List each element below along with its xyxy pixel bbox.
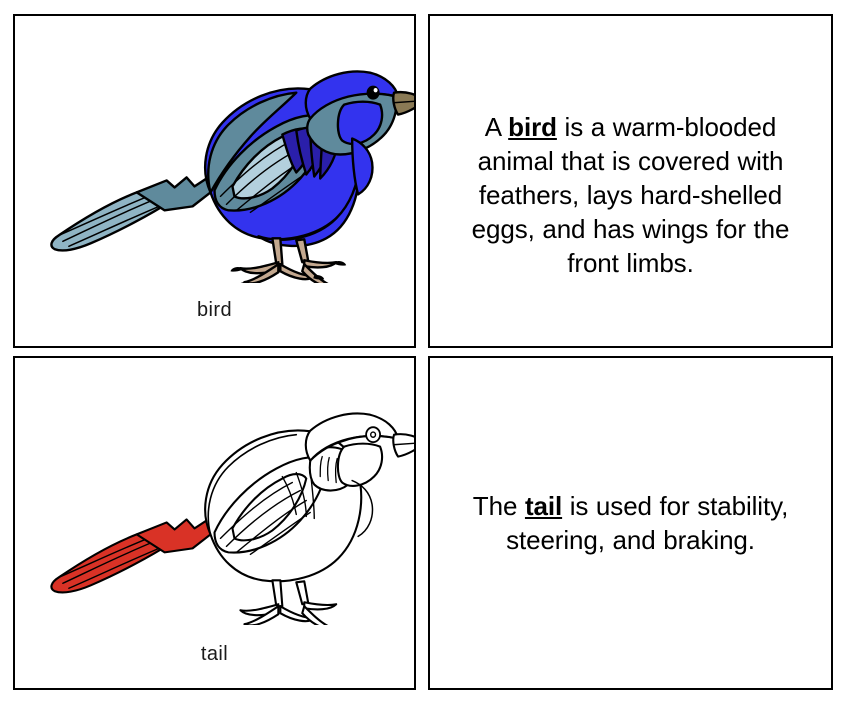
definition-term-tail: tail <box>525 491 562 521</box>
card-tail-definition[interactable]: The tail is used for stability, steering… <box>428 356 833 690</box>
definition-prefix: The <box>473 491 525 521</box>
nomenclature-card-sheet: bird A bird is a warm-blooded animal tha… <box>0 0 848 707</box>
picture-label-tail: tail <box>15 644 414 664</box>
definition-prefix: A <box>485 112 508 142</box>
outline-bird-tail-highlighted-illustration <box>15 370 414 625</box>
card-tail-picture[interactable]: tail <box>13 356 416 690</box>
colored-bird-illustration <box>15 28 414 283</box>
definition-card-inner: The tail is used for stability, steering… <box>430 358 831 688</box>
card-bird-picture[interactable]: bird <box>13 14 416 348</box>
definition-term-bird: bird <box>508 112 557 142</box>
picture-card-inner: bird <box>15 16 414 346</box>
picture-card-inner: tail <box>15 358 414 688</box>
picture-label-bird: bird <box>15 300 414 320</box>
card-bird-definition[interactable]: A bird is a warm-blooded animal that is … <box>428 14 833 348</box>
definition-text-tail: The tail is used for stability, steering… <box>466 489 796 557</box>
definition-text-bird: A bird is a warm-blooded animal that is … <box>472 110 790 280</box>
definition-card-inner: A bird is a warm-blooded animal that is … <box>430 16 831 346</box>
